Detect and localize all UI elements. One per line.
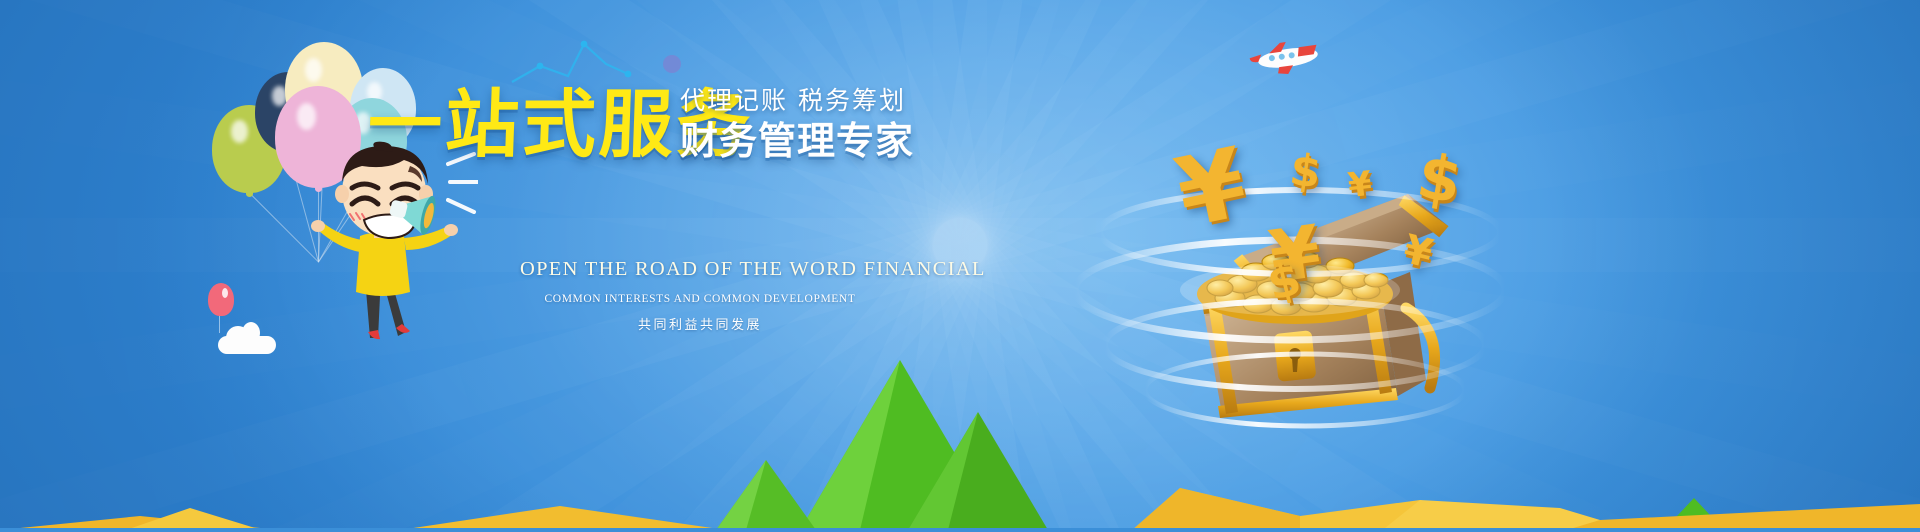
headline-expert-line: 财务管理专家 (680, 121, 914, 161)
dollar-symbol-1: $ (1287, 148, 1323, 196)
slogan-english-primary: OPEN THE ROAD OF THE WORD FINANCIAL (520, 258, 880, 281)
ray-22 (933, 0, 987, 245)
slogan-chinese: 共同利益共同发展 (520, 314, 880, 333)
yen-symbol-2: ¥ (1346, 167, 1373, 203)
slogan-english-secondary: COMMON INTERESTS AND COMMON DEVELOPMENT (520, 293, 880, 305)
line-chart-decoration (510, 30, 640, 88)
hero-banner: ¥$¥$¥¥$ (0, 0, 1920, 532)
headline-block: 一站式服务 代理记账 税务筹划 财务管理专家 (368, 88, 753, 162)
airplane-icon (1246, 33, 1329, 83)
balloon-olive-knot (246, 191, 253, 197)
headline-services-line: 代理记账 税务筹划 (680, 87, 914, 115)
headline-side-column: 代理记账 税务筹划 财务管理专家 (680, 87, 914, 161)
slogan-block: OPEN THE ROAD OF THE WORD FINANCIAL COMM… (520, 258, 880, 333)
purple-dot-decoration (663, 55, 681, 73)
landscape-ground (0, 302, 1920, 532)
